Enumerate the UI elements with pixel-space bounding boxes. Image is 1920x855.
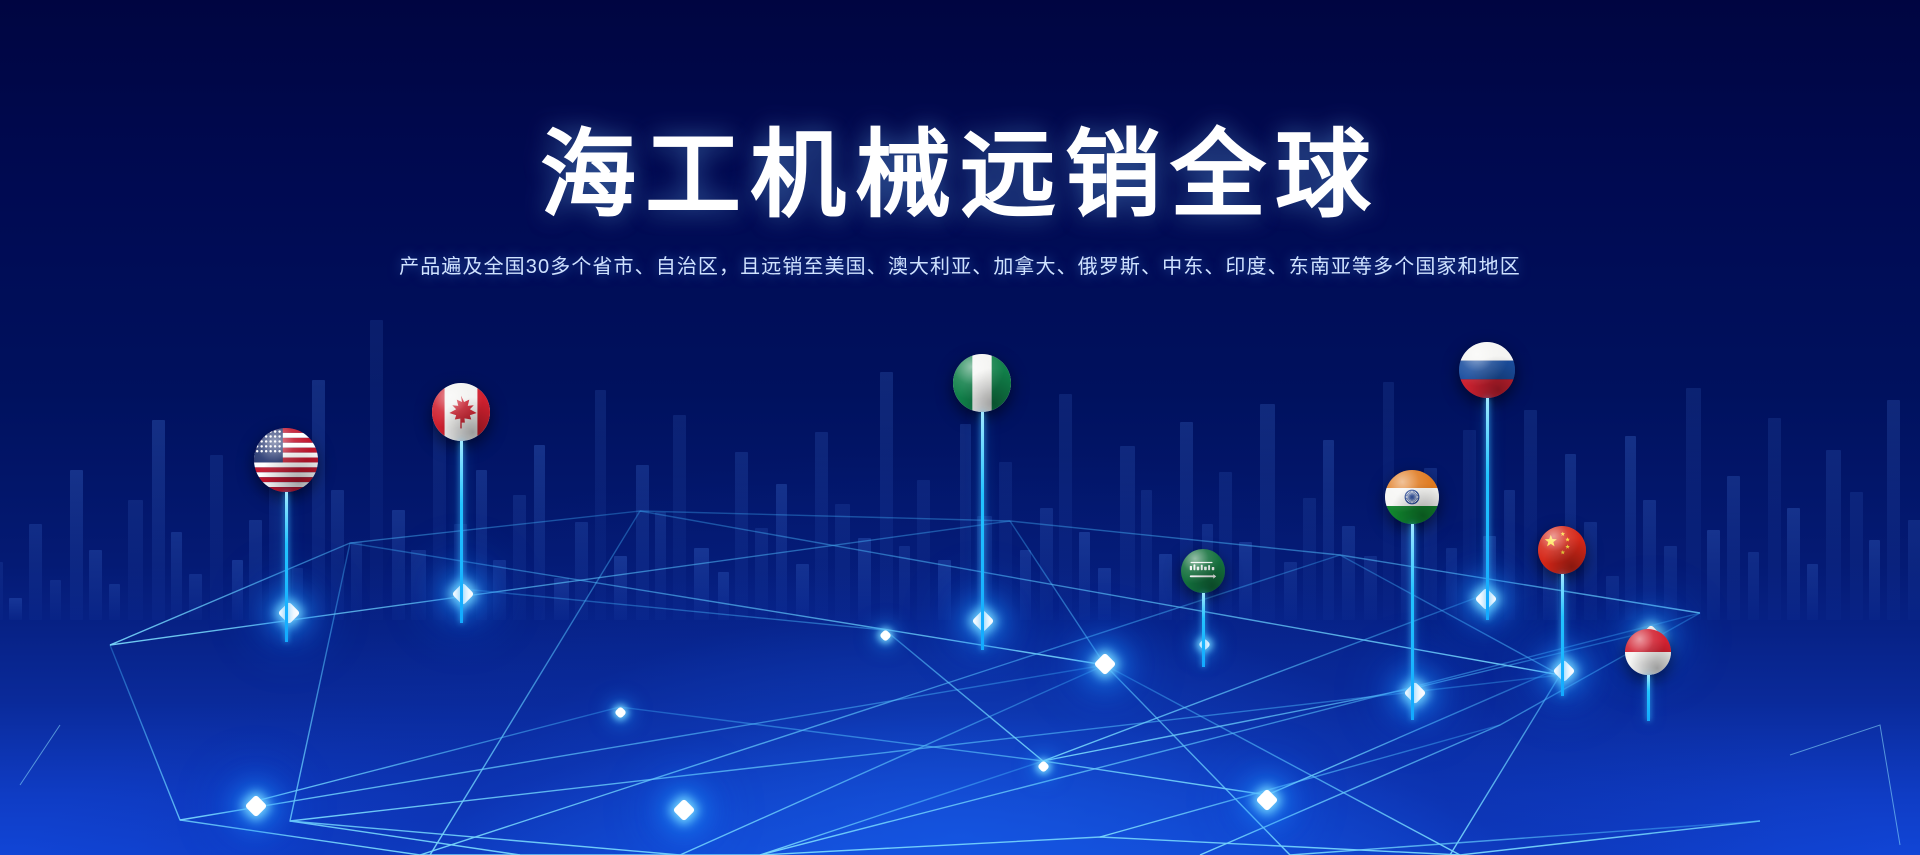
banner-headline: 海工机械远销全球 产品遍及全国30多个省市、自治区，且远销至美国、澳大利亚、加拿… xyxy=(0,128,1920,279)
map-pin-usa[interactable] xyxy=(254,428,318,492)
map-pin-canada[interactable] xyxy=(432,383,490,441)
page-subtitle: 产品遍及全国30多个省市、自治区，且远销至美国、澳大利亚、加拿大、俄罗斯、中东、… xyxy=(0,250,1920,279)
map-pin-china[interactable] xyxy=(1538,526,1586,574)
flag-indonesia xyxy=(1625,629,1671,675)
flag-saudi xyxy=(1181,549,1225,593)
flag-russia xyxy=(1459,342,1515,398)
flag-nigeria xyxy=(953,354,1011,412)
page-title: 海工机械远销全球 xyxy=(0,128,1920,224)
flag-usa xyxy=(254,428,318,492)
map-pin-indonesia[interactable] xyxy=(1625,629,1671,675)
pin-stem xyxy=(1647,675,1650,721)
pin-stem xyxy=(1411,524,1414,720)
flag-china xyxy=(1538,526,1586,574)
map-pin-nigeria[interactable] xyxy=(953,354,1011,412)
pin-stem xyxy=(1202,593,1205,667)
pin-stem xyxy=(460,441,463,623)
map-pin-russia[interactable] xyxy=(1459,342,1515,398)
pin-stem xyxy=(981,412,984,650)
pin-stem xyxy=(285,492,288,642)
map-pin-india[interactable] xyxy=(1385,470,1439,524)
world-distribution-banner: 海工机械远销全球 产品遍及全国30多个省市、自治区，且远销至美国、澳大利亚、加拿… xyxy=(0,0,1920,855)
flag-canada xyxy=(432,383,490,441)
pin-stem xyxy=(1561,574,1564,696)
map-pin-saudi[interactable] xyxy=(1181,549,1225,593)
flag-india xyxy=(1385,470,1439,524)
pin-stem xyxy=(1486,398,1489,620)
